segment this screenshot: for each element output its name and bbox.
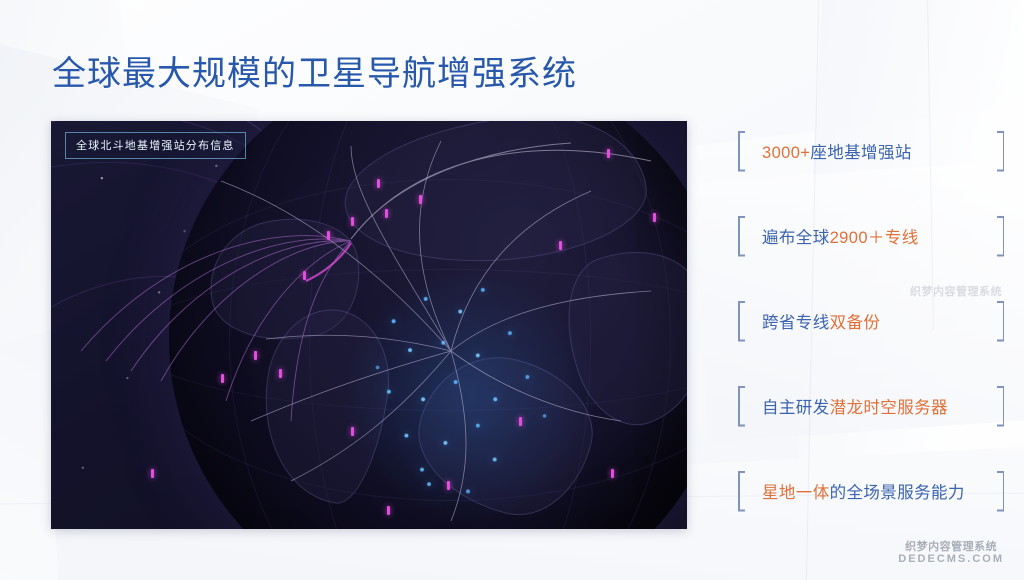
feature-item-label: 跨省专线双备份 xyxy=(746,309,996,333)
station-marker xyxy=(559,241,562,250)
station-marker xyxy=(653,213,656,222)
bracket-left-icon xyxy=(735,216,746,256)
station-marker xyxy=(351,217,354,226)
station-marker xyxy=(327,231,330,240)
bracket-right-icon xyxy=(996,131,1007,171)
feature-plain-text: 自主研发 xyxy=(762,399,830,417)
bracket-right-icon xyxy=(996,471,1007,511)
station-marker xyxy=(351,427,354,436)
station-marker xyxy=(519,417,522,426)
station-marker xyxy=(221,374,224,383)
bracket-right-icon xyxy=(996,216,1007,256)
feature-highlight-text: 潜龙时空服务器 xyxy=(830,399,948,417)
station-marker xyxy=(303,271,306,280)
feature-item-qianlong-server[interactable]: 自主研发潜龙时空服务器 xyxy=(735,383,1007,429)
station-marker xyxy=(447,481,450,490)
feature-item-label: 遍布全球2900＋专线 xyxy=(746,224,996,248)
station-marker xyxy=(279,369,282,378)
feature-highlight-text: 双备份 xyxy=(830,314,881,332)
station-marker xyxy=(419,195,422,204)
feature-list: 3000+座地基增强站 遍布全球2900＋专线 跨省专线双备份 自主研发潜龙时空… xyxy=(735,124,1007,534)
link-network xyxy=(51,121,687,529)
feature-plain-text: 座地基增强站 xyxy=(810,144,911,162)
station-marker xyxy=(607,149,610,158)
station-marker xyxy=(254,351,257,360)
station-marker xyxy=(377,179,380,188)
bracket-right-icon xyxy=(996,301,1007,341)
bracket-right-icon xyxy=(996,386,1007,426)
feature-item-label: 星地一体的全场景服务能力 xyxy=(746,479,996,503)
feature-plain-text: 遍布全球 xyxy=(762,229,830,247)
figure-badge-label: 全球北斗地基增强站分布信息 xyxy=(65,132,246,159)
feature-highlight-text: 星地一体 xyxy=(762,484,830,502)
globe-visualization-image: 全球北斗地基增强站分布信息 xyxy=(51,121,687,529)
bracket-left-icon xyxy=(735,471,746,511)
feature-item-dual-backup[interactable]: 跨省专线双备份 xyxy=(735,298,1007,344)
bracket-left-icon xyxy=(735,301,746,341)
bracket-left-icon xyxy=(735,131,746,171)
feature-plain-text: 的全场景服务能力 xyxy=(830,484,965,502)
station-marker xyxy=(387,506,390,515)
slide-canvas: 全球最大规模的卫星导航增强系统 xyxy=(0,0,1024,580)
bracket-left-icon xyxy=(735,386,746,426)
station-marker xyxy=(385,209,388,218)
feature-item-label: 3000+座地基增强站 xyxy=(746,139,996,163)
station-marker xyxy=(151,469,154,478)
station-marker xyxy=(611,469,614,478)
feature-item-global-lines[interactable]: 遍布全球2900＋专线 xyxy=(735,213,1007,259)
page-title: 全球最大规模的卫星导航增强系统 xyxy=(52,46,577,95)
feature-item-ground-stations[interactable]: 3000+座地基增强站 xyxy=(735,128,1007,174)
feature-highlight-text: 2900＋专线 xyxy=(830,229,919,247)
feature-item-integrated-capability[interactable]: 星地一体的全场景服务能力 xyxy=(735,468,1007,514)
feature-highlight-text: 3000+ xyxy=(762,144,810,162)
feature-plain-text: 跨省专线 xyxy=(762,314,830,332)
feature-item-label: 自主研发潜龙时空服务器 xyxy=(746,394,996,418)
